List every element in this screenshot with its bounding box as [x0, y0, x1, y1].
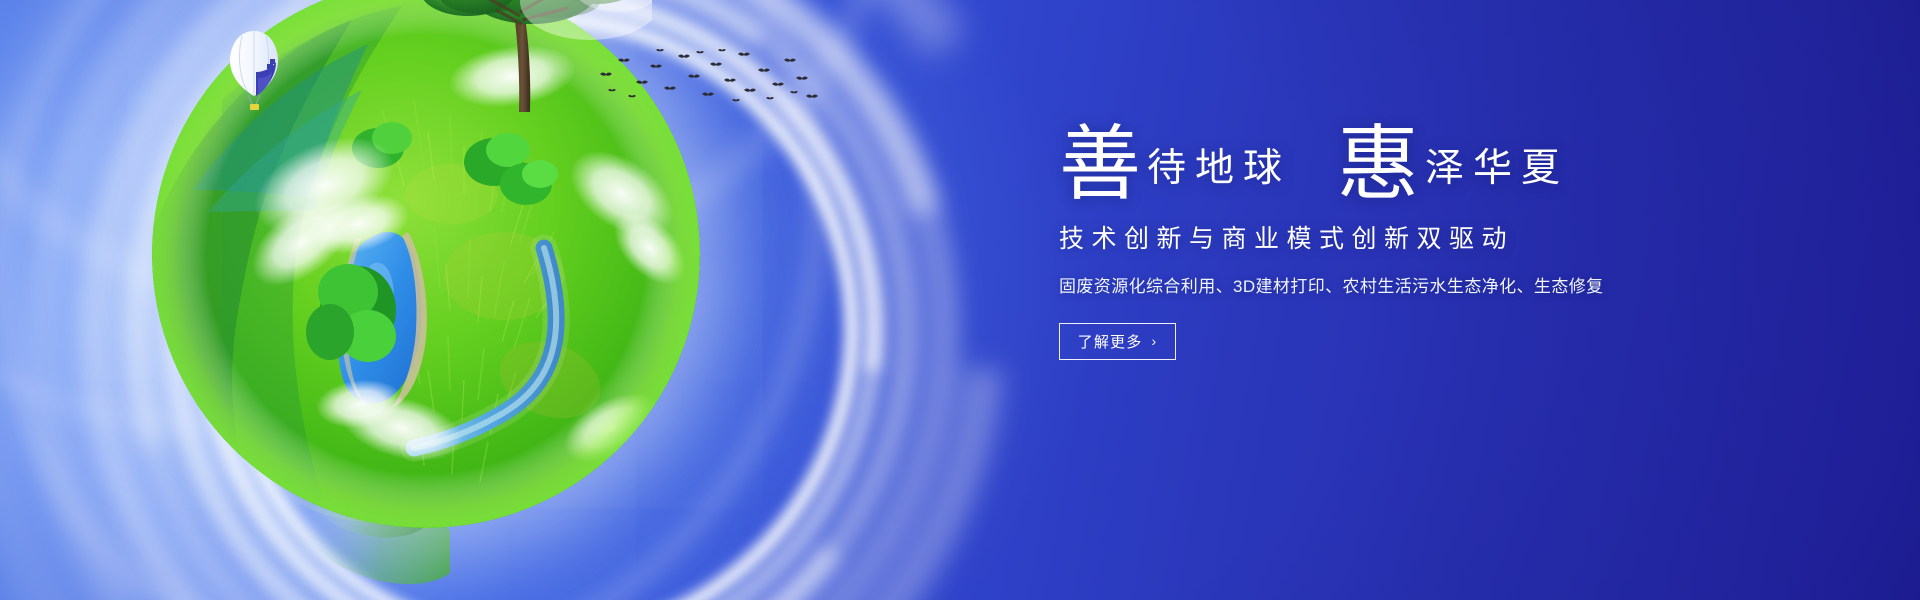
learn-more-button[interactable]: 了解更多 ›	[1059, 323, 1176, 360]
hot-air-balloon	[226, 28, 282, 114]
hero-description: 固废资源化综合利用、3D建材打印、农村生活污水生态净化、生态修复	[1059, 272, 1759, 297]
bird-flock	[592, 44, 822, 106]
headline-text-daidiqiu: 待地球	[1141, 149, 1291, 188]
hero-copy: 善 待地球 惠 泽华夏 技术创新与商业模式创新双驱动 固废资源化综合利用、3D建…	[1059, 126, 1759, 360]
headline-char-shan: 善	[1059, 130, 1141, 201]
headline-text-zehuaxia: 泽华夏	[1419, 149, 1569, 188]
hero-banner: 善 待地球 惠 泽华夏 技术创新与商业模式创新双驱动 固废资源化综合利用、3D建…	[0, 0, 1920, 600]
hero-headline: 善 待地球 惠 泽华夏	[1059, 126, 1759, 197]
headline-char-hui: 惠	[1337, 130, 1419, 201]
learn-more-label: 了解更多	[1078, 331, 1143, 352]
hero-subtitle: 技术创新与商业模式创新双驱动	[1059, 219, 1759, 255]
chevron-right-icon: ›	[1151, 334, 1157, 348]
